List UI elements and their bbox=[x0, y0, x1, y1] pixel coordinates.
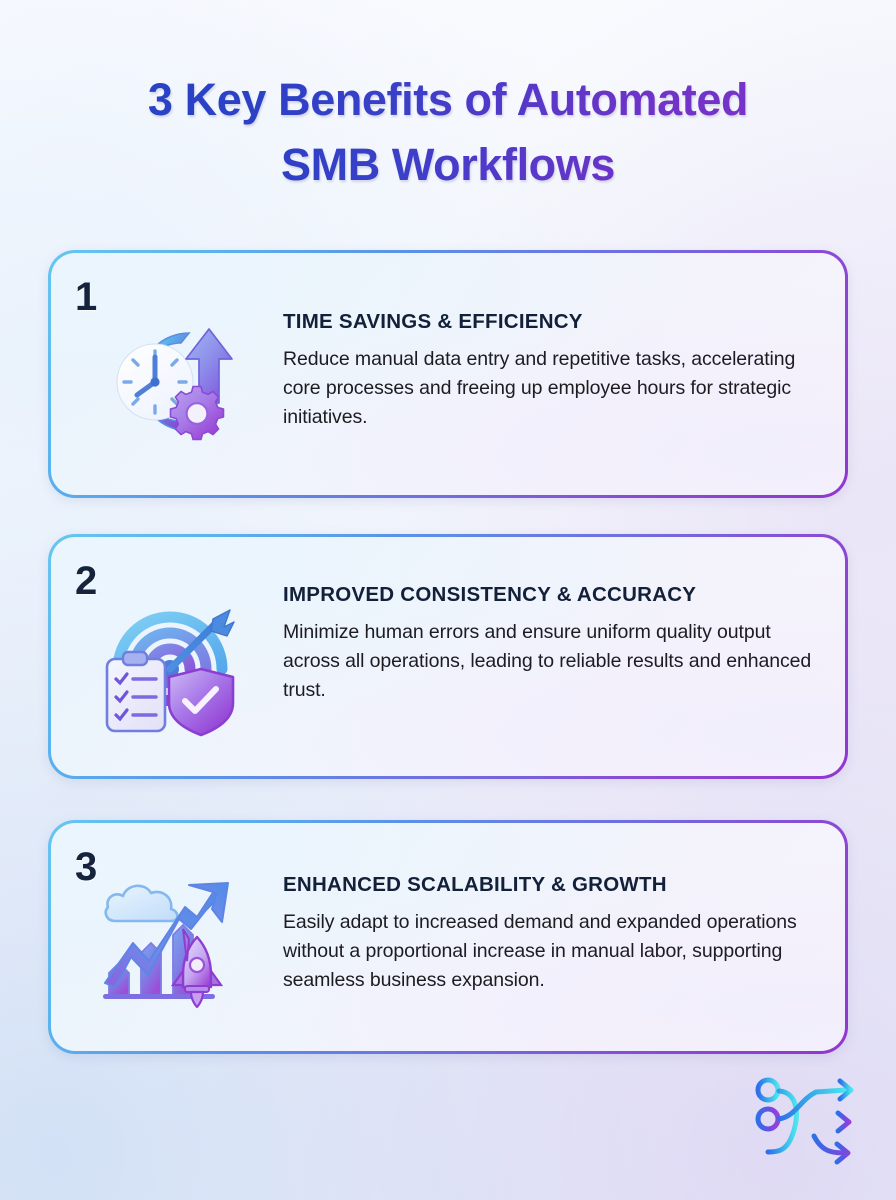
benefit-body-3: Easily adapt to increased demand and exp… bbox=[283, 908, 815, 995]
page-title-line-1: 3 Key Benefits of Automated bbox=[148, 74, 748, 125]
benefit-text-3: ENHANCED SCALABILITY & GROWTH Easily ada… bbox=[283, 873, 815, 995]
benefit-heading-3: ENHANCED SCALABILITY & GROWTH bbox=[283, 873, 815, 897]
benefit-body-2: Minimize human errors and ensure uniform… bbox=[283, 618, 815, 705]
clock-arrow-gear-icon bbox=[93, 307, 243, 457]
page-title: 3 Key Benefits of Automated SMB Workflow… bbox=[48, 68, 848, 198]
workflow-shuffle-icon bbox=[752, 1074, 876, 1170]
benefit-card-2: 2 bbox=[48, 534, 848, 779]
benefit-card-3: 3 bbox=[48, 820, 848, 1054]
benefit-card-3-inner: 3 bbox=[51, 823, 845, 1051]
benefit-heading-1: TIME SAVINGS & EFFICIENCY bbox=[283, 310, 815, 334]
infographic-poster: 3 Key Benefits of Automated SMB Workflow… bbox=[0, 0, 896, 1200]
benefit-card-2-inner: 2 bbox=[51, 537, 845, 776]
page-title-line-2: SMB Workflows bbox=[48, 133, 848, 198]
growth-chart-rocket-cloud-icon bbox=[93, 865, 243, 1015]
benefit-body-1: Reduce manual data entry and repetitive … bbox=[283, 345, 815, 432]
benefit-text-2: IMPROVED CONSISTENCY & ACCURACY Minimize… bbox=[283, 583, 815, 705]
benefit-card-1: 1 bbox=[48, 250, 848, 498]
benefit-card-1-inner: 1 bbox=[51, 253, 845, 495]
benefit-text-1: TIME SAVINGS & EFFICIENCY Reduce manual … bbox=[283, 310, 815, 432]
target-clipboard-shield-icon bbox=[93, 591, 243, 741]
benefit-heading-2: IMPROVED CONSISTENCY & ACCURACY bbox=[283, 583, 815, 607]
